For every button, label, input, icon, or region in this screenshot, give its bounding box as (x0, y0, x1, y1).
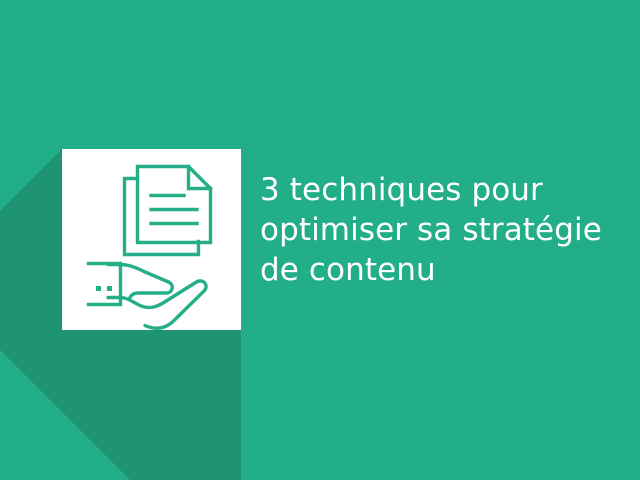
document-front-icon (138, 167, 211, 243)
cuff-button-1-icon (96, 286, 101, 291)
headline-text: 3 techniques pour optimiser sa stratégie… (260, 170, 610, 290)
icon-card (62, 149, 241, 330)
open-hand-palm-icon (108, 281, 206, 328)
promo-banner: 3 techniques pour optimiser sa stratégie… (0, 0, 640, 480)
hand-holding-documents-icon (62, 149, 241, 330)
open-hand-icon (108, 265, 172, 298)
cuff-button-2-icon (107, 286, 112, 291)
